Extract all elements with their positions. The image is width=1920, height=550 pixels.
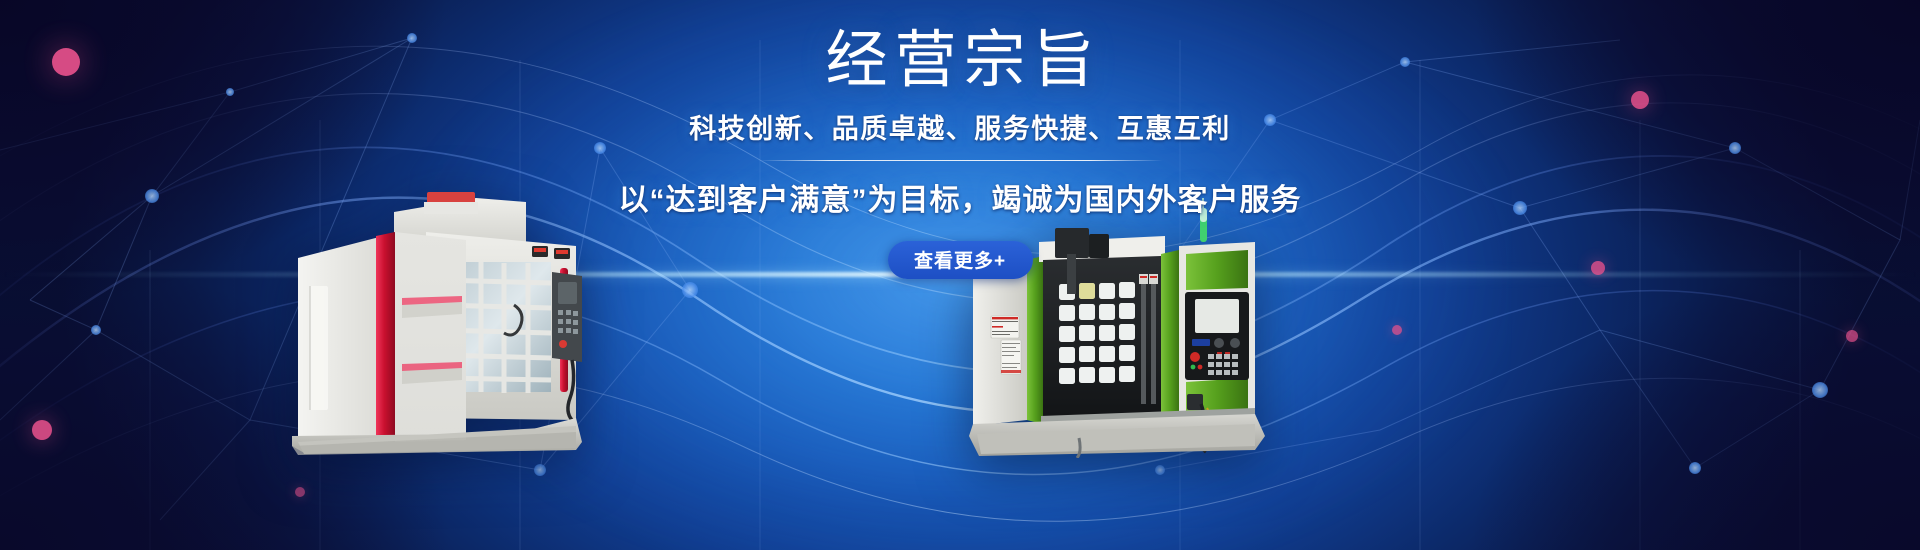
view-more-button[interactable]: 查看更多+ bbox=[888, 241, 1033, 279]
promo-banner: 经营宗旨 科技创新、品质卓越、服务快捷、互惠互利 以“达到客户满意”为目标，竭诚… bbox=[0, 0, 1920, 550]
banner-tagline: 以“达到客户满意”为目标，竭诚为国内外客户服务 bbox=[619, 175, 1302, 219]
decorative-node-blue bbox=[1689, 462, 1701, 474]
decorative-node-blue bbox=[145, 189, 159, 203]
text-divider bbox=[758, 160, 1163, 161]
decorative-node-blue bbox=[91, 325, 101, 335]
decorative-node-blue bbox=[1264, 114, 1276, 126]
decorative-node-blue bbox=[534, 464, 546, 476]
decorative-node-blue bbox=[682, 282, 698, 298]
decorative-dot-pink bbox=[1631, 91, 1649, 109]
decorative-dot-pink bbox=[1591, 261, 1605, 275]
decorative-dot-pink bbox=[32, 420, 52, 440]
decorative-node-blue bbox=[407, 33, 417, 43]
decorative-node-blue bbox=[1812, 382, 1828, 398]
decorative-node-blue bbox=[1729, 142, 1741, 154]
decorative-dot-pink bbox=[1392, 325, 1402, 335]
decorative-node-blue bbox=[1155, 465, 1165, 475]
decorative-dot-pink bbox=[295, 487, 305, 497]
machine-photo-left bbox=[276, 150, 606, 455]
decorative-node-blue bbox=[1400, 57, 1410, 67]
decorative-node-blue bbox=[1513, 201, 1527, 215]
decorative-node-blue bbox=[226, 88, 234, 96]
decorative-dot-pink bbox=[1846, 330, 1858, 342]
page-title: 经营宗旨 bbox=[818, 28, 1101, 95]
banner-subtitle: 科技创新、品质卓越、服务快捷、互惠互利 bbox=[689, 107, 1231, 146]
decorative-dot-pink bbox=[52, 48, 80, 76]
